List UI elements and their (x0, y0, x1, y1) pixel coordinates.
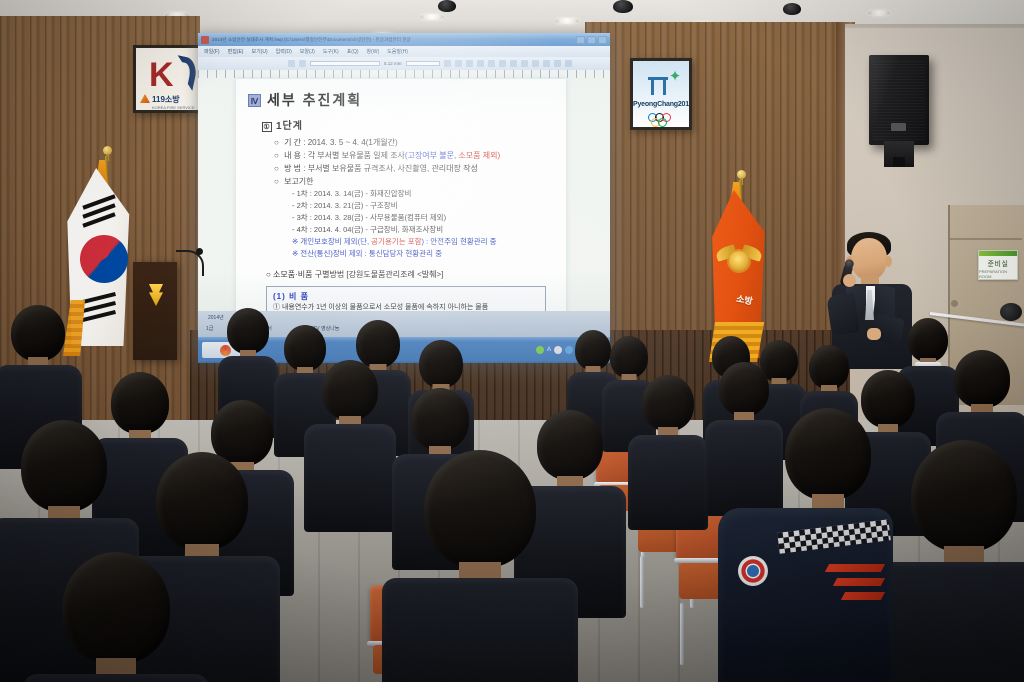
ceiling-downlight (555, 18, 579, 24)
document-note: ※전산(통신)장비 제외 : 통신담당자 현황관리 중 (292, 248, 554, 260)
document-item: ○ 보고기한 (274, 175, 554, 188)
audience-member (160, 452, 244, 682)
document-item: ○ 방 법 : 부서별 보유물품 규격조사, 사진촬영, 관리대장 작성 (274, 162, 554, 175)
note-star-icon: ※ (292, 237, 298, 246)
window-title-text: 2014년 소방안전 실태조사 계획.hwp [C:\Users\행정안전부\D… (212, 37, 576, 43)
fire-service-emblem-icon (718, 243, 760, 279)
olympic-rings-icon (633, 112, 689, 128)
presenter-ear (885, 256, 892, 267)
wall-banner-pyeongchang-2018: ✦ PyeongChang2018 (630, 58, 692, 130)
menu-item-help[interactable]: 도움말(H) (387, 48, 408, 55)
lectern (133, 262, 177, 360)
document-heading-row: Ⅳ 세부 추진계획 (248, 90, 554, 110)
desktop-icon-label[interactable]: 2014년 (208, 314, 224, 321)
ceiling-dome-fixture (613, 0, 633, 13)
desktop-icon-label[interactable]: 1급 (206, 325, 213, 332)
menu-item-view[interactable]: 보기(U) (251, 48, 267, 55)
menu-item-input[interactable]: 입력(D) (276, 48, 292, 55)
document-subitem: - 3차 : 2014. 3. 28(금) - 사무용물품(컴퓨터 제외) (292, 212, 554, 224)
horizontal-ruler (198, 70, 610, 78)
toolbar-icon[interactable] (288, 60, 295, 67)
toolbar-icon[interactable] (466, 60, 473, 67)
attendee-fire-service-jacket (718, 508, 893, 682)
menu-item-file[interactable]: 파일(F) (204, 48, 220, 55)
jacket-red-stripe (841, 592, 885, 600)
flagpole-finial (103, 146, 112, 155)
minimize-icon[interactable] (576, 36, 585, 44)
item-text: : 각 부서별 보유물품 일제 조사 (303, 151, 405, 160)
audience-member (320, 360, 380, 510)
banner-mark-letter: K (149, 58, 174, 92)
jacket-shoulder-badge (738, 556, 768, 586)
door-sign-subtext: PREPARATION ROOM (979, 269, 1017, 279)
toolbar-icon[interactable] (488, 60, 495, 67)
bullet-icon: ○ (274, 177, 279, 186)
item-label: 방 법 (284, 164, 301, 173)
document-subitem: - 2차 : 2014. 3. 21(금) - 구조장비 (292, 200, 554, 212)
item-label: 기 간 (284, 138, 301, 147)
presenter-hand-left (843, 274, 856, 287)
pointer-stick-grip (1000, 303, 1022, 321)
wall-banner-fire-service: K 119소방 KOREA FIRE SERVICE (133, 45, 201, 113)
item-label: 보고기한 (284, 177, 313, 186)
section-label: 1단계 (276, 121, 303, 132)
document-extra-item: ○ 소모품·비품 구별방법 [강원도물품관리조례 <발췌>] (266, 268, 554, 281)
menu-bar[interactable]: 파일(F) 편집(E) 보기(U) 입력(D) 모양(J) 도구(K) 표(Q)… (198, 46, 610, 57)
toolbar-icon[interactable] (554, 60, 561, 67)
door-sign: 준비실 PREPARATION ROOM (978, 250, 1018, 280)
menu-item-edit[interactable]: 편집(E) (228, 48, 244, 55)
item-text: : 부서별 보유물품 규격조사, 사진촬영, 관리대장 작성 (303, 164, 478, 173)
window-controls[interactable] (576, 36, 607, 44)
toolbar-icon[interactable] (299, 60, 306, 67)
pyeongchang-logo-icon: ✦ (646, 69, 682, 97)
presenter-hand-right (867, 328, 881, 340)
gooseneck-microphone (176, 250, 204, 276)
toolbar-icon[interactable] (521, 60, 528, 67)
document-subitem: - 1차 : 2014. 3. 14(금) - 화재진압장비 (292, 188, 554, 200)
audience-member (68, 552, 164, 682)
bullet-icon: ○ (274, 164, 279, 173)
ceiling-dome-fixture (783, 3, 801, 15)
pa-speaker-badge (891, 123, 906, 131)
window-title-bar: 2014년 소방안전 실태조사 계획.hwp [C:\Users\행정안전부\D… (198, 33, 610, 46)
banner-label: 119소방 (152, 94, 180, 105)
toolbar-icon[interactable] (510, 60, 517, 67)
app-icon (201, 36, 209, 44)
pa-speaker (869, 55, 929, 145)
jacket-checkered-band (777, 519, 891, 553)
note-text-red: 공기용기는 포함 (369, 237, 421, 246)
toolbar[interactable]: 5.12 mm (198, 57, 610, 70)
heading-badge: Ⅳ (248, 94, 261, 107)
pyeongchang-text: PyeongChang2018 (633, 101, 689, 108)
note-text-blue-2: ) : 안전주임 현황관리 중 (422, 237, 497, 246)
toolbar-icon[interactable] (565, 60, 572, 67)
toolbar-icon[interactable] (444, 60, 451, 67)
door-sign-text: 준비실 (988, 259, 1009, 269)
menu-item-tools[interactable]: 도구(K) (323, 48, 339, 55)
audience-member (640, 375, 696, 515)
flagpole-finial (737, 170, 746, 179)
presenter-head (851, 238, 887, 280)
jacket-red-stripe (825, 564, 885, 572)
line-width-value: 5.12 mm (384, 61, 402, 66)
item-text: : 2014. 3. 5 ~ 4. 4(1개월간) (303, 138, 397, 147)
menu-item-format[interactable]: 모양(J) (300, 48, 315, 55)
line-style-selector[interactable] (310, 61, 380, 66)
snowflake-icon: ✦ (668, 70, 682, 84)
bullet-icon: ○ (274, 138, 279, 147)
banner-swoosh-icon (171, 55, 199, 91)
banner-flame-icon (140, 94, 150, 103)
audience-member (538, 410, 602, 590)
ceiling-dome-fixture (438, 0, 456, 12)
note-star-icon: ※ (292, 249, 298, 258)
tray-icon[interactable] (554, 346, 562, 354)
bullet-icon: ○ (274, 151, 279, 160)
audience-member (916, 440, 1012, 680)
banner-sublabel: KOREA FIRE SERVICE (152, 105, 195, 110)
toolbar-icon[interactable] (532, 60, 539, 67)
tray-ime-indicator[interactable]: A (547, 347, 551, 353)
line-preview[interactable] (406, 61, 440, 66)
toolbar-icon[interactable] (477, 60, 484, 67)
presenter-arm-left (826, 292, 859, 336)
door-sign-bar (979, 251, 1017, 256)
door-knob[interactable] (951, 300, 958, 307)
toolbar-icon[interactable] (499, 60, 506, 67)
jacket-red-stripe (833, 578, 885, 586)
quote-box-title: (1) 비 품 (273, 291, 539, 302)
item-label: 내 용 (284, 151, 301, 160)
menu-item-table[interactable]: 표(Q) (347, 48, 359, 55)
pa-speaker-bracket (884, 141, 914, 167)
ceiling-downlight (420, 14, 444, 20)
close-icon[interactable] (598, 36, 607, 44)
item-note-blue: (고장여부 불문, (405, 151, 456, 160)
note-text-blue: 전산(통신)장비 제외 : 통신담당자 현황관리 중 (300, 249, 442, 258)
document-item: ○ 기 간 : 2014. 3. 5 ~ 4. 4(1개월간) (274, 136, 554, 149)
document-item: ○ 내 용 : 각 부서별 보유물품 일제 조사(고장여부 불문, 소모품 제외… (274, 149, 554, 162)
tray-status-icon[interactable] (536, 346, 544, 354)
menu-item-window[interactable]: 창(W) (367, 48, 380, 55)
section-mark: ① (262, 122, 272, 132)
audience-member (716, 362, 772, 502)
ceiling-downlight (868, 10, 890, 16)
document-note: ※개인보호장비 제외(단, 공기용기는 포함) : 안전주임 현황관리 중 (292, 236, 554, 248)
maximize-icon[interactable] (587, 36, 596, 44)
audience-member (430, 450, 530, 682)
door-transom-panel (950, 208, 1022, 240)
emblem-rosette (729, 251, 749, 271)
document-subitem: - 4차 : 2014. 4. 04(금) - 구급장비, 화재조사장비 (292, 224, 554, 236)
item-note-red: 소모품 제외) (456, 151, 500, 160)
conference-room-photo: 준비실 PREPARATION ROOM K 119소방 KOREA FIRE … (0, 0, 1024, 682)
document-heading: 세부 추진계획 (267, 90, 362, 110)
toolbar-icon[interactable] (455, 60, 462, 67)
note-text-blue: 개인보호장비 제외(단, (300, 237, 369, 246)
document-section-heading: ①1단계 (262, 117, 554, 132)
document-page: Ⅳ 세부 추진계획 ①1단계 ○ 기 간 : 2014. 3. 5 ~ 4. 4… (236, 79, 566, 334)
toolbar-icon[interactable] (543, 60, 550, 67)
